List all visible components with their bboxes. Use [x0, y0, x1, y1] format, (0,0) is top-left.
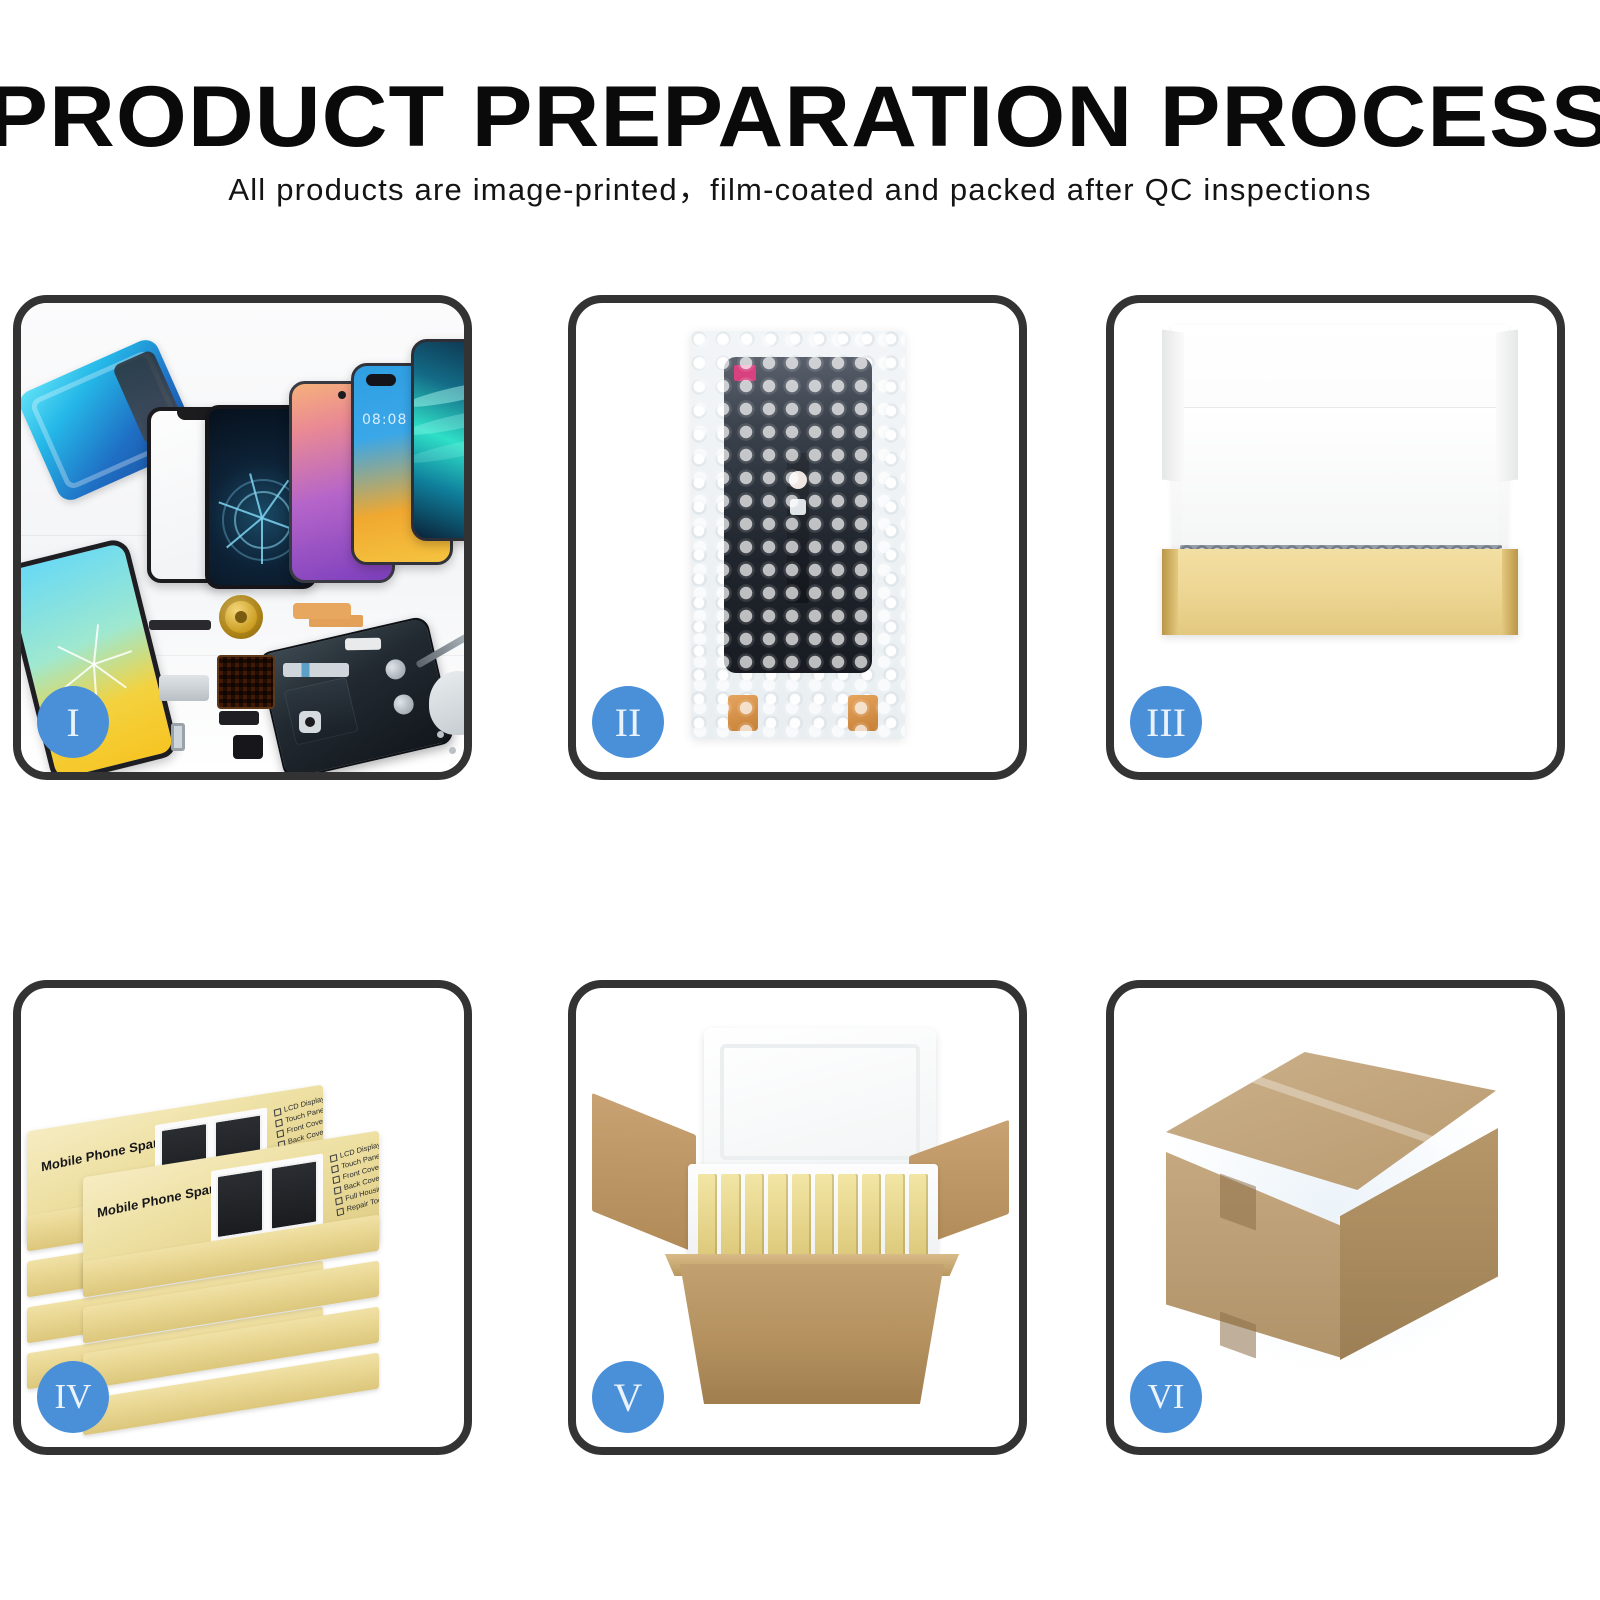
wireless-charging-coil-part: [219, 595, 263, 639]
driver-chip: [790, 499, 806, 515]
earpiece-speaker-part: [149, 620, 211, 630]
process-step-grid: 08:08: [0, 0, 1600, 1600]
gold-connector-right: [848, 695, 878, 731]
camera-flex-part: [159, 675, 209, 701]
step-badge-1: I: [37, 686, 109, 758]
gold-connector-left: [728, 695, 758, 731]
panel-step-6[interactable]: VI: [1106, 980, 1565, 1455]
packed-retail-boxes: [698, 1174, 928, 1256]
pink-quality-tape: [734, 365, 756, 381]
step-badge-2: II: [592, 686, 664, 758]
screen-clock: 08:08: [362, 412, 407, 428]
sim-tray-part: [171, 723, 185, 751]
proximity-sensor: [789, 471, 807, 489]
foam-lid: [704, 1028, 936, 1176]
panel-step-5[interactable]: V: [568, 980, 1027, 1455]
step-badge-4: IV: [37, 1361, 109, 1433]
screw-part: [449, 747, 456, 754]
box-checklist: LCD Display Touch Panel Front Cover Back…: [329, 1131, 379, 1218]
step-badge-5: V: [592, 1361, 664, 1433]
camera-module-part: [299, 711, 321, 733]
step-badge-6: VI: [1130, 1361, 1202, 1433]
loudspeaker-part: [233, 735, 263, 759]
logic-chip-part: [217, 655, 275, 709]
flex-cable-part: [293, 603, 351, 619]
teal-gradient-phone: [411, 339, 464, 541]
kraft-inner-box: [1162, 549, 1518, 635]
panel-step-4[interactable]: Mobile Phone Spare Parts LCD Display Tou…: [13, 980, 472, 1455]
vibrator-module-part: [219, 711, 259, 725]
panel-step-1[interactable]: 08:08: [13, 295, 472, 780]
white-box-lid: [1172, 325, 1508, 573]
button-flex-part: [283, 663, 349, 677]
outer-carton-body: [662, 1264, 962, 1404]
step-badge-3: III: [1130, 686, 1202, 758]
panel-step-2[interactable]: II: [568, 295, 1027, 780]
panel-step-3[interactable]: III: [1106, 295, 1565, 780]
carton-flap-left: [592, 1093, 696, 1253]
